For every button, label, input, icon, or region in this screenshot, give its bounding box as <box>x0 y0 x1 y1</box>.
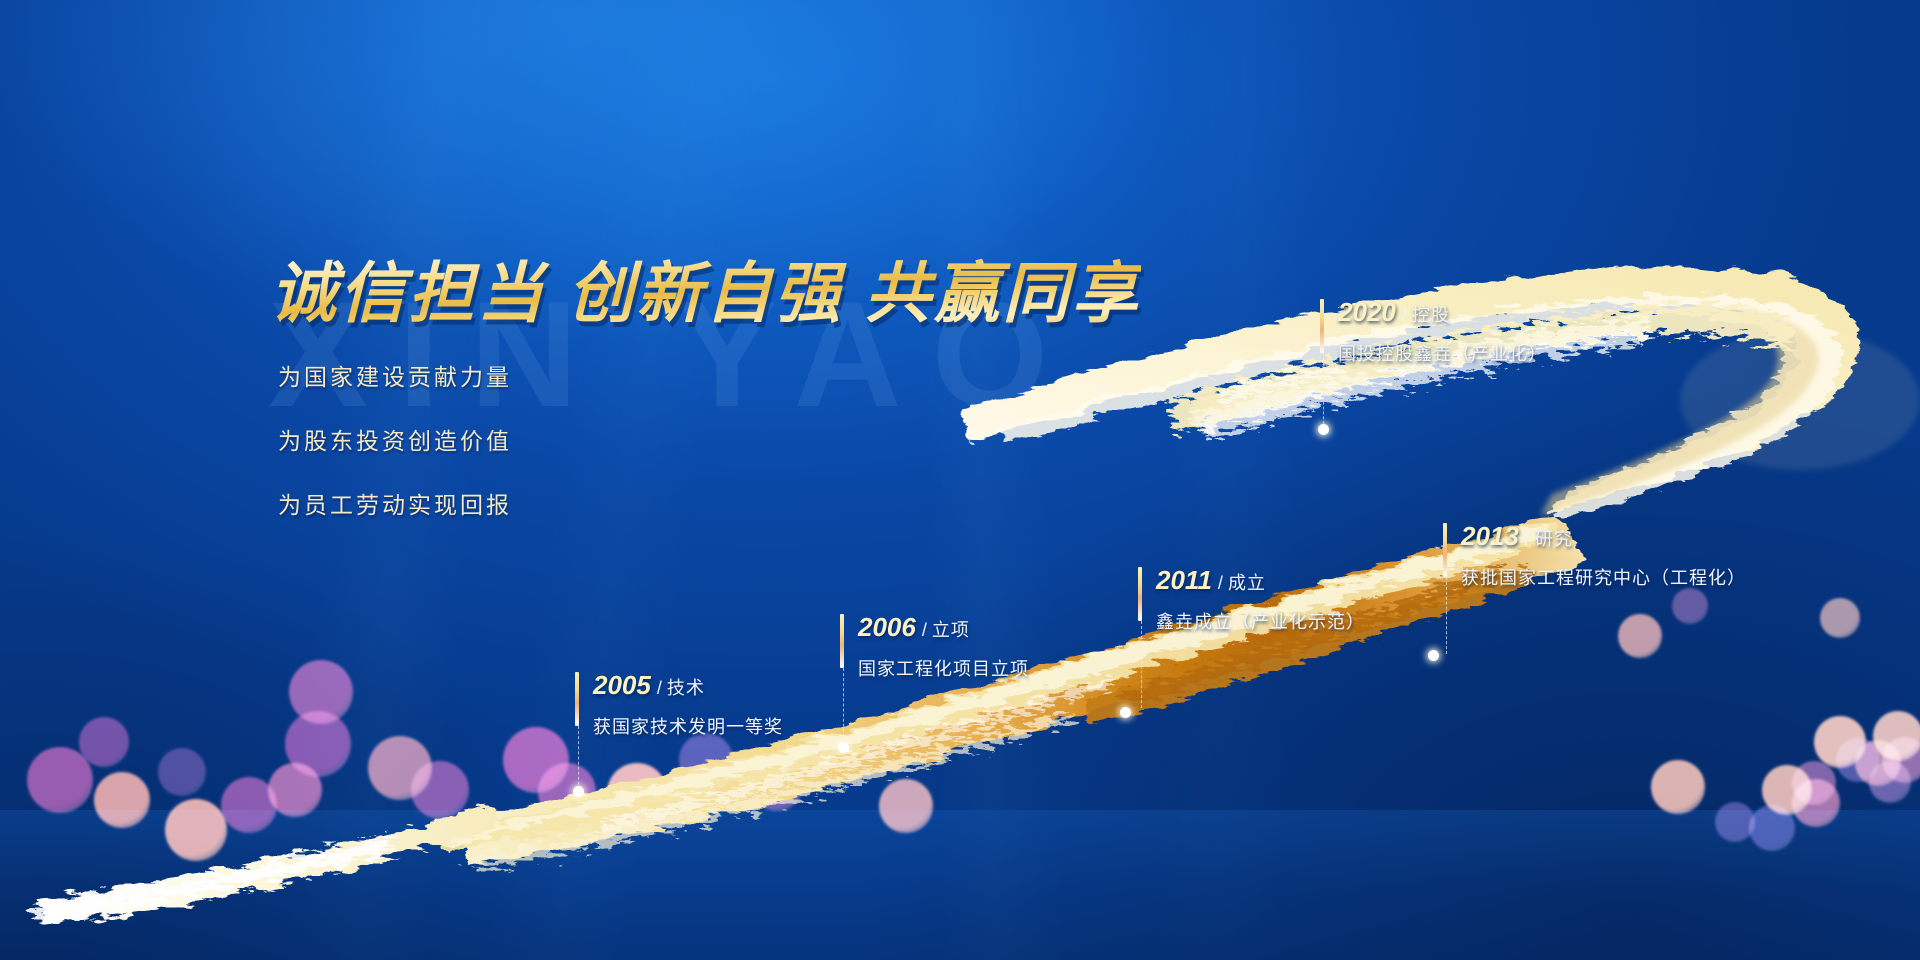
milestone-text: 2013/研究获批国家工程研究中心（工程化） <box>1461 521 1746 590</box>
milestone-heading: 2011/成立 <box>1156 565 1365 596</box>
milestone-tag: 控股 <box>1412 301 1450 327</box>
milestone-dot[interactable] <box>1120 707 1131 718</box>
milestone-description: 鑫垚成立（产业化示范） <box>1156 608 1365 634</box>
milestone-2013[interactable]: 2013/研究获批国家工程研究中心（工程化） <box>1443 521 1746 590</box>
milestone-2020[interactable]: 2020/控股国投控股鑫垚（产业化） <box>1320 297 1547 366</box>
bokeh-circle <box>1792 779 1840 827</box>
bokeh-circle <box>879 779 933 833</box>
milestone-separator: / <box>1402 305 1407 326</box>
milestone-accent-bar <box>1443 523 1447 577</box>
milestone-description: 国投控股鑫垚（产业化） <box>1338 340 1547 366</box>
bokeh-circle <box>679 733 733 787</box>
milestone-heading: 2020/控股 <box>1338 297 1547 328</box>
bokeh-circle <box>1882 737 1920 783</box>
milestone-tag: 成立 <box>1228 569 1266 595</box>
milestone-accent-bar <box>575 672 579 726</box>
milestone-dot[interactable] <box>573 786 584 797</box>
bokeh-circle <box>94 772 150 828</box>
milestone-text: 2011/成立鑫垚成立（产业化示范） <box>1156 565 1365 634</box>
milestone-tag: 技术 <box>667 674 705 700</box>
milestone-text: 2006/立项国家工程化项目立项 <box>858 612 1029 681</box>
milestone-year: 2006 <box>858 612 916 643</box>
milestone-text: 2005/技术获国家技术发明一等奖 <box>593 670 783 739</box>
milestone-year: 2005 <box>593 670 651 701</box>
milestone-heading: 2005/技术 <box>593 670 783 701</box>
milestone-separator: / <box>1525 529 1530 550</box>
milestone-2005[interactable]: 2005/技术获国家技术发明一等奖 <box>575 670 783 739</box>
bokeh-circle <box>1672 588 1708 624</box>
milestone-dot[interactable] <box>1318 424 1329 435</box>
bokeh-circle <box>411 761 469 819</box>
bokeh-circle <box>289 660 353 724</box>
bokeh-circle <box>79 717 129 767</box>
subtitle-line: 为员工劳动实现回报 <box>278 486 512 520</box>
bokeh-circle <box>1651 760 1705 814</box>
subtitle-list: 为国家建设贡献力量 为股东投资创造价值 为员工劳动实现回报 <box>278 358 512 550</box>
banner-canvas: XIN YAO <box>0 0 1920 960</box>
milestone-accent-bar <box>1138 567 1142 621</box>
milestone-separator: / <box>1218 573 1223 594</box>
milestone-separator: / <box>657 678 662 699</box>
milestone-accent-bar <box>840 614 844 668</box>
milestone-tag: 立项 <box>932 616 970 642</box>
milestone-description: 国家工程化项目立项 <box>858 655 1029 681</box>
milestone-year: 2013 <box>1461 521 1519 552</box>
milestone-dot[interactable] <box>1428 650 1439 661</box>
milestone-tag: 研究 <box>1535 525 1573 551</box>
bokeh-circle <box>751 759 803 811</box>
subtitle-line: 为股东投资创造价值 <box>278 422 512 456</box>
milestone-year: 2020 <box>1338 297 1396 328</box>
milestone-description: 获批国家工程研究中心（工程化） <box>1461 564 1746 590</box>
milestone-year: 2011 <box>1156 565 1212 596</box>
bokeh-circle <box>165 799 227 861</box>
milestone-dot[interactable] <box>838 742 849 753</box>
subtitle-line: 为国家建设贡献力量 <box>278 358 512 392</box>
milestone-accent-bar <box>1320 299 1324 353</box>
bokeh-circle <box>158 748 206 796</box>
milestone-description: 获国家技术发明一等奖 <box>593 713 783 739</box>
background-lower-band <box>0 810 1920 960</box>
bokeh-circle <box>1820 598 1860 638</box>
milestone-text: 2020/控股国投控股鑫垚（产业化） <box>1338 297 1547 366</box>
milestone-separator: / <box>922 620 927 641</box>
milestone-heading: 2006/立项 <box>858 612 1029 643</box>
milestone-heading: 2013/研究 <box>1461 521 1746 552</box>
bokeh-circle <box>1618 614 1662 658</box>
bokeh-circle <box>538 763 596 821</box>
milestone-2011[interactable]: 2011/成立鑫垚成立（产业化示范） <box>1138 565 1365 634</box>
milestone-leader-line <box>1141 621 1142 708</box>
page-title: 诚信担当 创新自强 共赢同享 <box>270 240 1141 336</box>
milestone-2006[interactable]: 2006/立项国家工程化项目立项 <box>840 612 1029 681</box>
bokeh-circle <box>607 763 667 823</box>
